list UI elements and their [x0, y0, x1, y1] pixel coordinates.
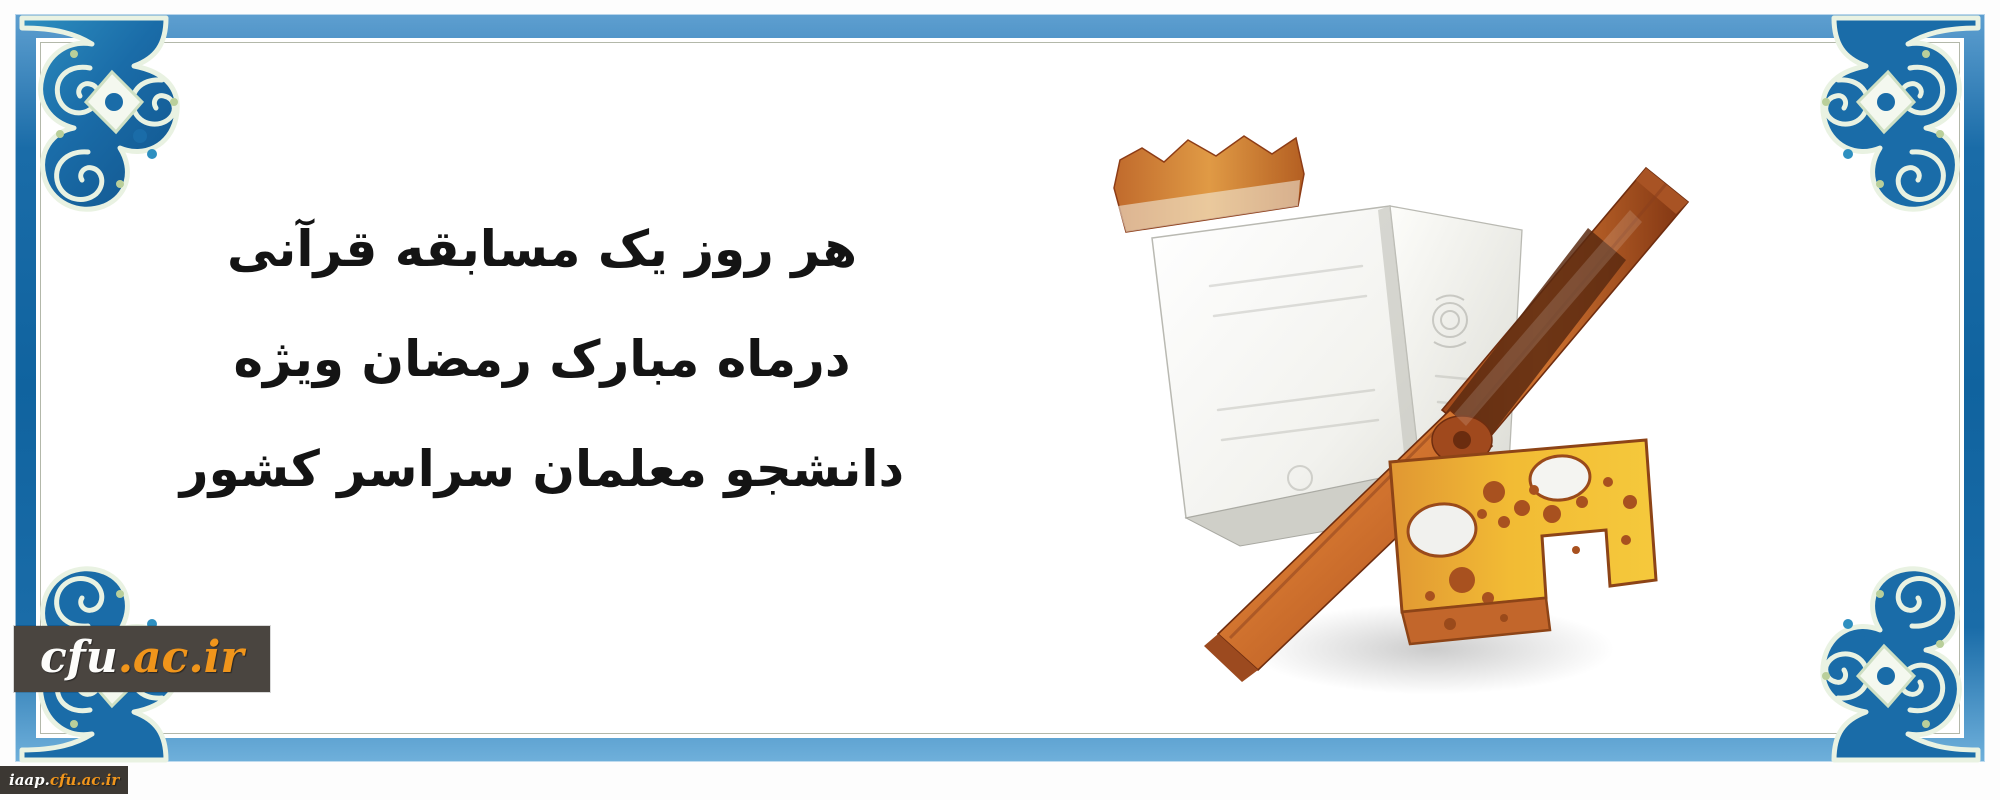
watermark-cfu-suffix: .ac.ir: [118, 632, 244, 683]
watermark-iaap-badge: iaap.cfu.ac.ir: [0, 766, 128, 794]
headline-line-2: درماه مبارک رمضان ویژه: [162, 304, 922, 414]
watermark-cfu-badge: cfu.ac.ir: [14, 626, 270, 692]
watermark-iaap-text: iaap.cfu.ac.ir: [9, 771, 119, 789]
watermark-iaap-suffix: cfu.ac.ir: [50, 771, 119, 789]
headline-line-3: دانشجو معلمان سراسر کشور: [162, 414, 922, 524]
headline-block: هر روز یک مسابقه قرآنی درماه مبارک رمضان…: [162, 194, 922, 524]
quran-rehal-artwork: [1090, 110, 1730, 690]
quran-cover-flap: [1114, 136, 1304, 232]
watermark-cfu-prefix: cfu: [40, 632, 118, 683]
banner-canvas: هر روز یک مسابقه قرآنی درماه مبارک رمضان…: [42, 44, 1958, 732]
rehal-carved-panel: [1390, 440, 1656, 644]
quran-competition-banner: هر روز یک مسابقه قرآنی درماه مبارک رمضان…: [0, 0, 2000, 800]
watermark-cfu-text: cfu.ac.ir: [40, 632, 244, 683]
headline-line-1: هر روز یک مسابقه قرآنی: [162, 194, 922, 304]
watermark-iaap-prefix: iaap.: [9, 771, 50, 789]
quran-rehal-illustration: [1090, 110, 1730, 690]
